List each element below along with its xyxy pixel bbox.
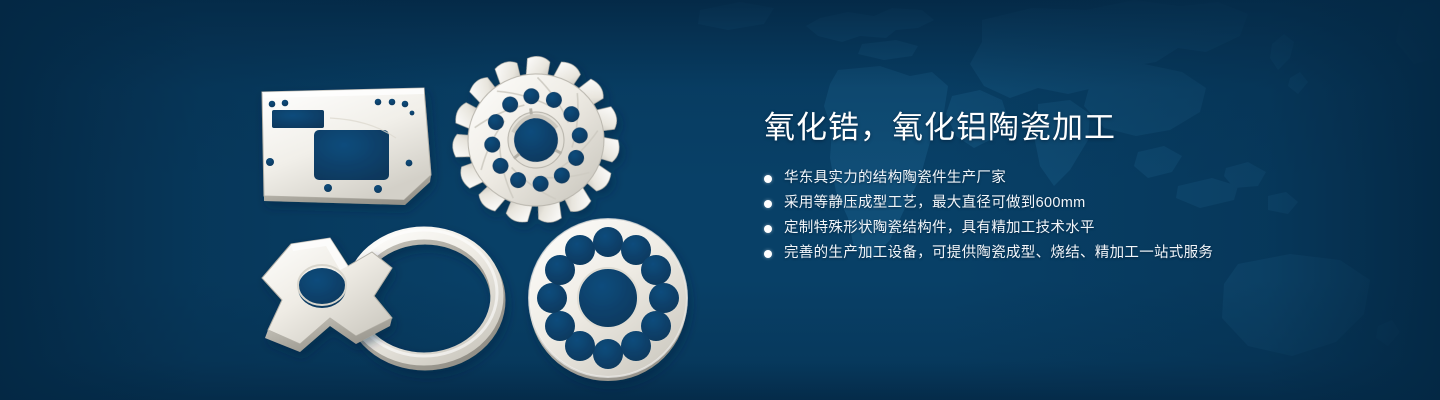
promo-banner: 氧化锆，氧化铝陶瓷加工 华东具实力的结构陶瓷件生产厂家 采用等静压成型工艺，最大… (0, 0, 1440, 400)
page-title: 氧化锆，氧化铝陶瓷加工 (764, 108, 1384, 148)
list-item: 完善的生产加工设备，可提供陶瓷成型、烧结、精加工一站式服务 (764, 241, 1384, 266)
list-item: 采用等静压成型工艺，最大直径可做到600mm (764, 191, 1384, 216)
list-item: 定制特殊形状陶瓷结构件，具有精加工技术水平 (764, 216, 1384, 241)
feature-list: 华东具实力的结构陶瓷件生产厂家 采用等静压成型工艺，最大直径可做到600mm 定… (764, 166, 1384, 266)
list-item-label: 完善的生产加工设备，可提供陶瓷成型、烧结、精加工一站式服务 (784, 241, 1213, 266)
list-item: 华东具实力的结构陶瓷件生产厂家 (764, 166, 1384, 191)
banner-copy: 氧化锆，氧化铝陶瓷加工 华东具实力的结构陶瓷件生产厂家 采用等静压成型工艺，最大… (764, 108, 1384, 266)
list-item-label: 采用等静压成型工艺，最大直径可做到600mm (784, 191, 1085, 216)
bullet-dot-icon (764, 200, 772, 208)
product-ceramic-cross-part (262, 238, 392, 352)
product-ceramic-plate (262, 88, 431, 205)
bullet-dot-icon (764, 225, 772, 233)
list-item-label: 华东具实力的结构陶瓷件生产厂家 (784, 166, 1006, 191)
bullet-dot-icon (764, 250, 772, 258)
product-ceramic-impeller (443, 47, 631, 235)
product-ceramic-perforated-disc (529, 219, 687, 381)
bullet-dot-icon (764, 175, 772, 183)
list-item-label: 定制特殊形状陶瓷结构件，具有精加工技术水平 (784, 216, 1095, 241)
product-photo-group (0, 0, 760, 400)
